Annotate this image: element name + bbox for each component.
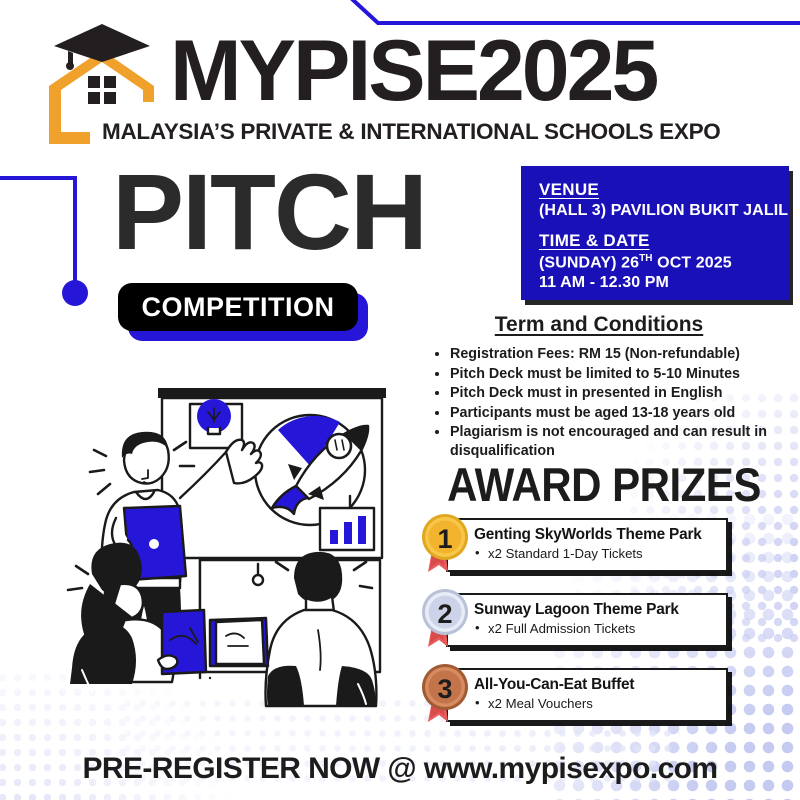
terms-title: Term and Conditions [424,313,774,337]
time-date-heading: TIME & DATE [539,231,789,251]
page-title: PITCH [112,158,426,266]
svg-text:1: 1 [437,524,452,554]
gold-medal-icon: 1 [418,510,474,576]
prize-detail: x2 Meal Vouchers [474,696,726,711]
logo-tagline: MALAYSIA’S PRIVATE & INTERNATIONAL SCHOO… [102,120,720,144]
prize-box: Sunway Lagoon Theme Park x2 Full Admissi… [446,593,728,647]
terms-item: Registration Fees: RM 15 (Non-refundable… [450,345,774,364]
competition-badge: COMPETITION [118,283,368,341]
svg-text:2: 2 [437,599,452,629]
prize-name: Sunway Lagoon Theme Park [474,601,726,619]
terms-item: Plagiarism is not encouraged and can res… [450,423,774,460]
prize-name: All-You-Can-Eat Buffet [474,676,726,694]
terms-list: Registration Fees: RM 15 (Non-refundable… [424,345,774,461]
event-time: 11 AM - 12.30 PM [539,274,789,292]
prize-detail: x2 Standard 1-Day Tickets [474,546,726,561]
terms-item: Pitch Deck must in presented in English [450,384,774,403]
poster-canvas: MYPISE2025 MALAYSIA’S PRIVATE & INTERNAT… [0,0,800,800]
prize-detail: x2 Full Admission Tickets [474,621,726,636]
prize-row: Genting SkyWorlds Theme Park x2 Standard… [418,518,728,576]
competition-badge-label: COMPETITION [118,283,358,331]
terms-item: Pitch Deck must be limited to 5-10 Minut… [450,365,774,384]
pre-register-cta[interactable]: PRE-REGISTER NOW @ www.mypisexpo.com [0,752,800,786]
award-prizes-title: AWARD PRIZES [424,462,784,509]
event-date: (SUNDAY) 26TH OCT 2025 [539,253,789,272]
prize-row: All-You-Can-Eat Buffet x2 Meal Vouchers … [418,668,728,726]
prize-box: All-You-Can-Eat Buffet x2 Meal Vouchers [446,668,728,722]
silver-medal-icon: 2 [418,585,474,651]
pitch-presentation-illustration [62,378,406,722]
venue-value: (HALL 3) PAVILION BUKIT JALIL [539,202,789,220]
terms-item: Participants must be aged 13-18 years ol… [450,404,774,423]
svg-text:3: 3 [437,674,452,704]
left-bracket-line-decoration [0,150,100,320]
terms-and-conditions: Term and Conditions Registration Fees: R… [424,313,774,462]
logo-wordmark: MYPISE2025 [170,28,656,114]
prize-row: Sunway Lagoon Theme Park x2 Full Admissi… [418,593,728,651]
brand-logo: MYPISE2025 MALAYSIA’S PRIVATE & INTERNAT… [42,22,772,147]
prize-name: Genting SkyWorlds Theme Park [474,526,726,544]
venue-info-box: VENUE (HALL 3) PAVILION BUKIT JALIL TIME… [521,166,789,300]
venue-heading: VENUE [539,180,789,200]
prize-box: Genting SkyWorlds Theme Park x2 Standard… [446,518,728,572]
bronze-medal-icon: 3 [418,660,474,726]
